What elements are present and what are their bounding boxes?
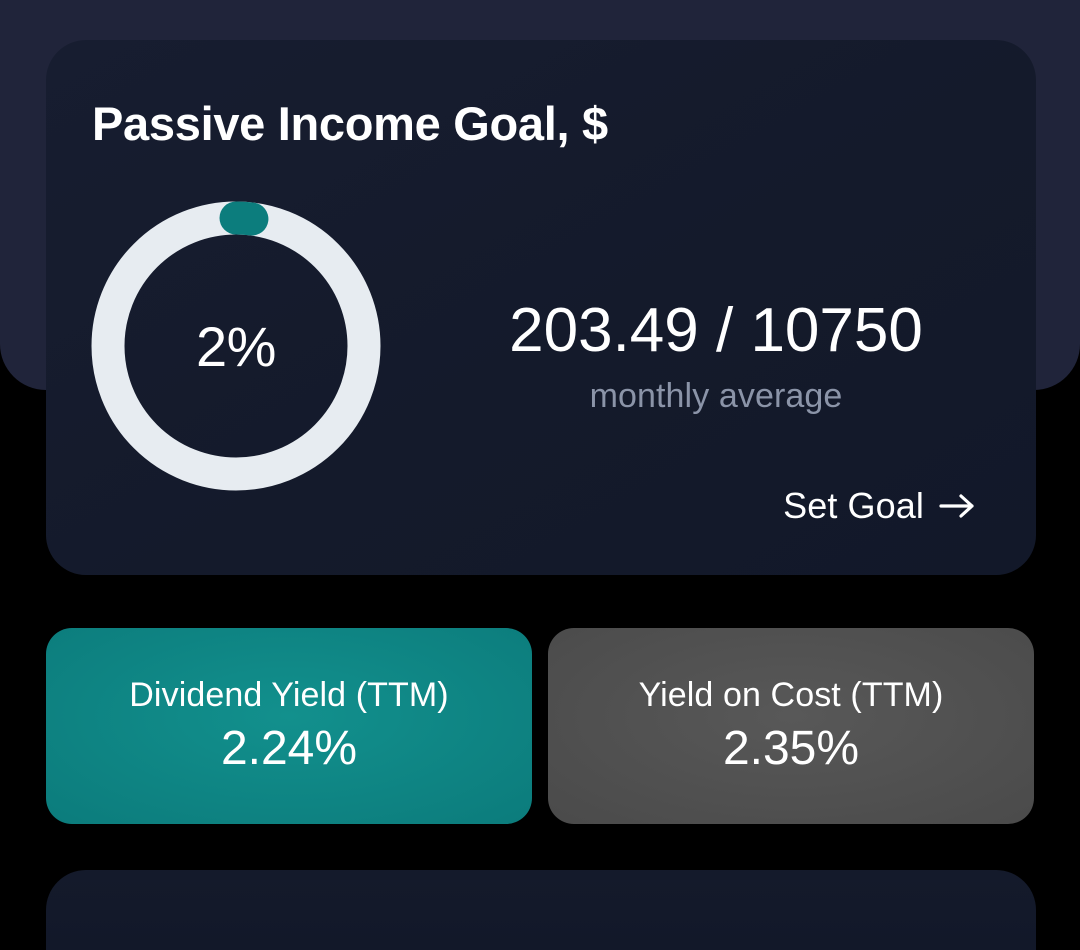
next-card-peek[interactable] [46, 870, 1036, 950]
goal-value: 203.49 / 10750 [436, 298, 996, 363]
metric-tiles: Dividend Yield (TTM) 2.24% Yield on Cost… [46, 628, 1034, 824]
goal-stat-block: 203.49 / 10750 monthly average [436, 298, 996, 416]
tile-yield-on-cost[interactable]: Yield on Cost (TTM) 2.35% [548, 628, 1034, 824]
tile-yield-on-cost-value: 2.35% [723, 721, 859, 776]
goal-progress-ring: 2% [90, 200, 382, 492]
goal-value-caption: monthly average [436, 377, 996, 416]
tile-dividend-yield-value: 2.24% [221, 721, 357, 776]
page-title: Passive Income Goal, $ [92, 96, 608, 151]
set-goal-button[interactable]: Set Goal [783, 485, 978, 527]
set-goal-label: Set Goal [783, 485, 924, 527]
tile-yield-on-cost-label: Yield on Cost (TTM) [639, 676, 944, 715]
arrow-right-icon [938, 491, 978, 521]
app-screen: Passive Income Goal, $ 2% 203.49 / 10750… [0, 0, 1080, 884]
tile-dividend-yield[interactable]: Dividend Yield (TTM) 2.24% [46, 628, 532, 824]
passive-income-goal-card: Passive Income Goal, $ 2% 203.49 / 10750… [46, 40, 1036, 575]
progress-percent-label: 2% [90, 200, 382, 492]
tile-dividend-yield-label: Dividend Yield (TTM) [129, 676, 448, 715]
